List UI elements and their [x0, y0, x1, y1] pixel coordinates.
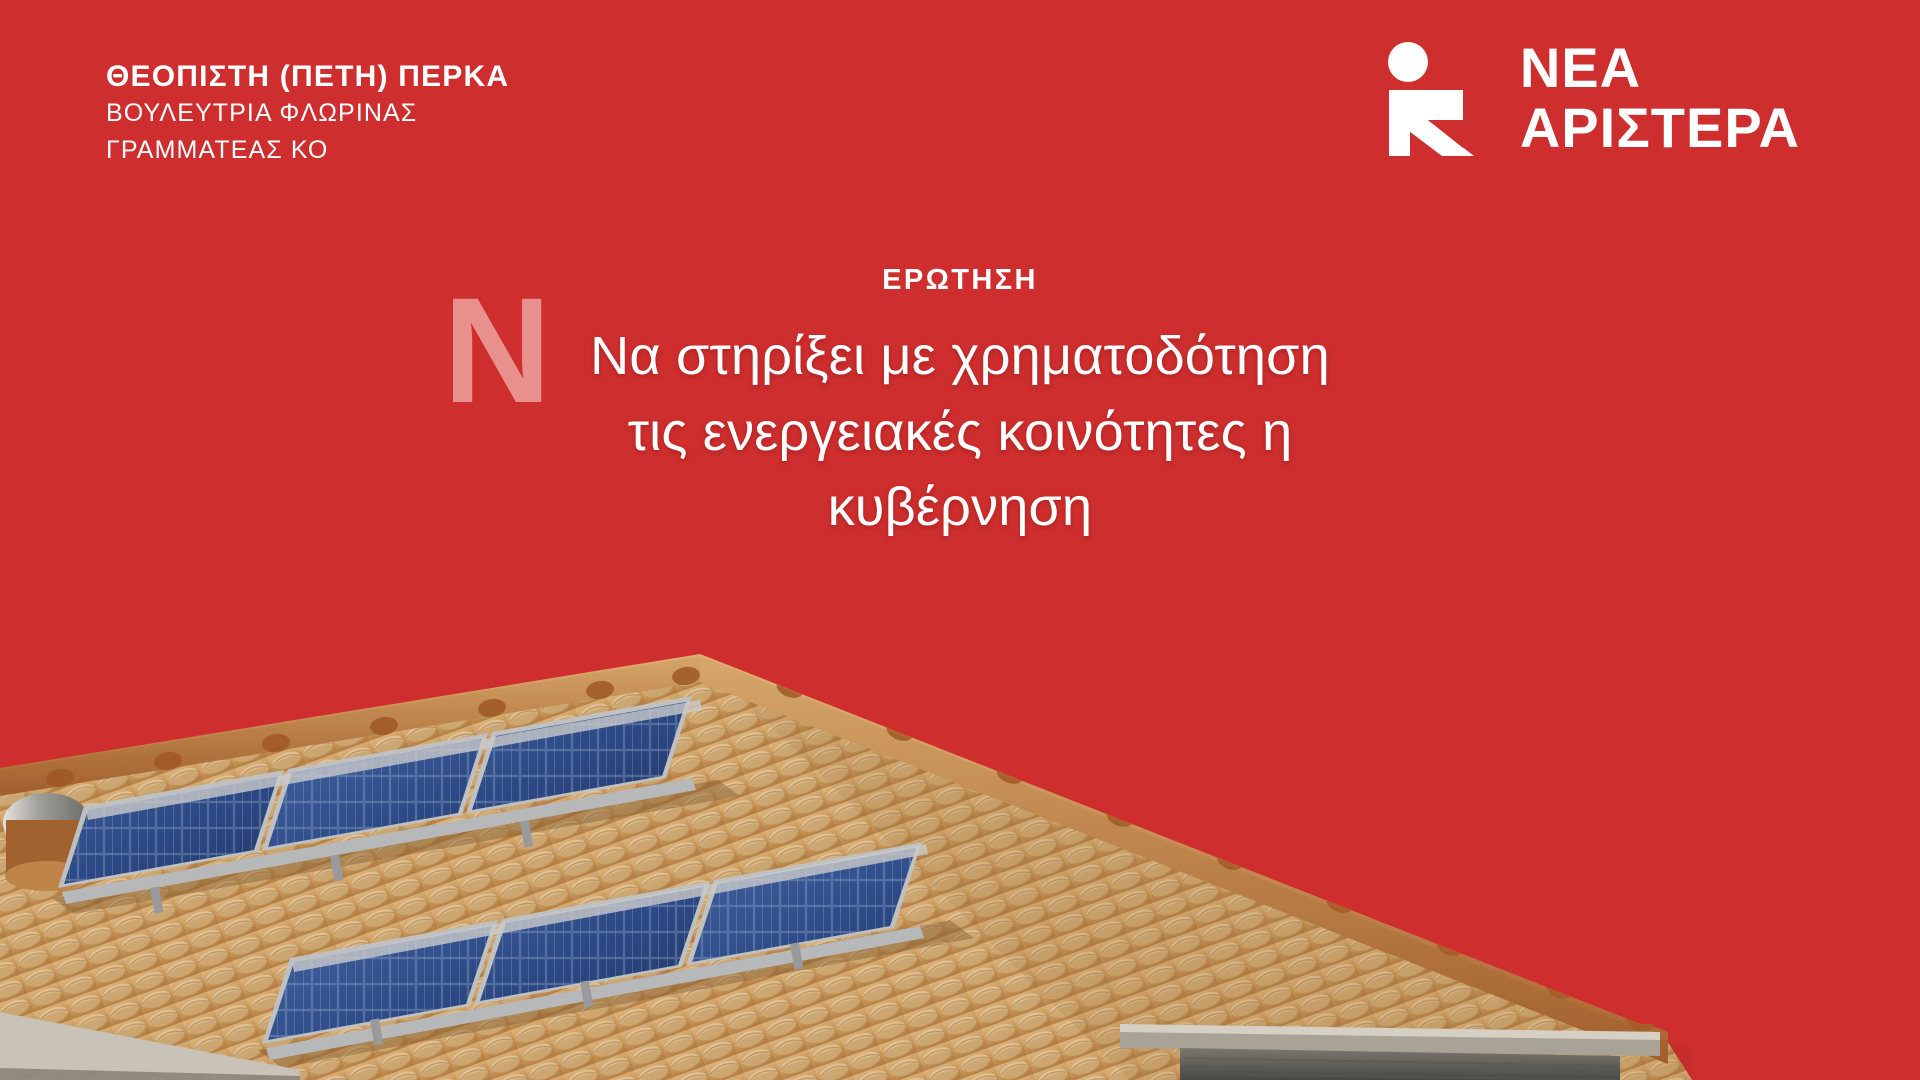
walking-person-icon	[1370, 40, 1486, 156]
speaker-role-line-1: ΒΟΥΛΕΥΤΡΙΑ ΦΛΩΡΙΝΑΣ	[106, 95, 509, 132]
party-logo-text: ΝΕΑ ΑΡΙΣΤΕΡΑ	[1520, 38, 1800, 158]
headline-wrapper: Ν Να στηρίξει με χρηματοδότηση τις ενεργ…	[430, 319, 1490, 546]
headline-line-1: Να στηρίξει με χρηματοδότηση	[430, 319, 1490, 395]
kicker-label: ΕΡΩΤΗΣΗ	[430, 264, 1490, 297]
poster-canvas: ΘΕΟΠΙΣΤΗ (ΠΕΤΗ) ΠΕΡΚΑ ΒΟΥΛΕΥΤΡΙΑ ΦΛΩΡΙΝΑ…	[0, 0, 1920, 1080]
headline-line-2: τις ενεργειακές κοινότητες η	[430, 395, 1490, 471]
speaker-role-line-2: ΓΡΑΜΜΑΤΕΑΣ ΚΟ	[106, 132, 509, 169]
solar-panel-roof-photo	[0, 620, 1692, 1080]
speaker-name: ΘΕΟΠΙΣΤΗ (ΠΕΤΗ) ΠΕΡΚΑ	[106, 58, 509, 95]
headline-line-3: κυβέρνηση	[430, 470, 1490, 546]
party-logo-line-1: ΝΕΑ	[1520, 36, 1641, 99]
title-block: ΕΡΩΤΗΣΗ Ν Να στηρίξει με χρηματοδότηση τ…	[430, 264, 1490, 546]
party-logo-line-2: ΑΡΙΣΤΕΡΑ	[1520, 98, 1800, 158]
party-logo: ΝΕΑ ΑΡΙΣΤΕΡΑ	[1370, 38, 1800, 158]
headline: Να στηρίξει με χρηματοδότηση τις ενεργει…	[430, 319, 1490, 546]
speaker-block: ΘΕΟΠΙΣΤΗ (ΠΕΤΗ) ΠΕΡΚΑ ΒΟΥΛΕΥΤΡΙΑ ΦΛΩΡΙΝΑ…	[106, 58, 509, 168]
